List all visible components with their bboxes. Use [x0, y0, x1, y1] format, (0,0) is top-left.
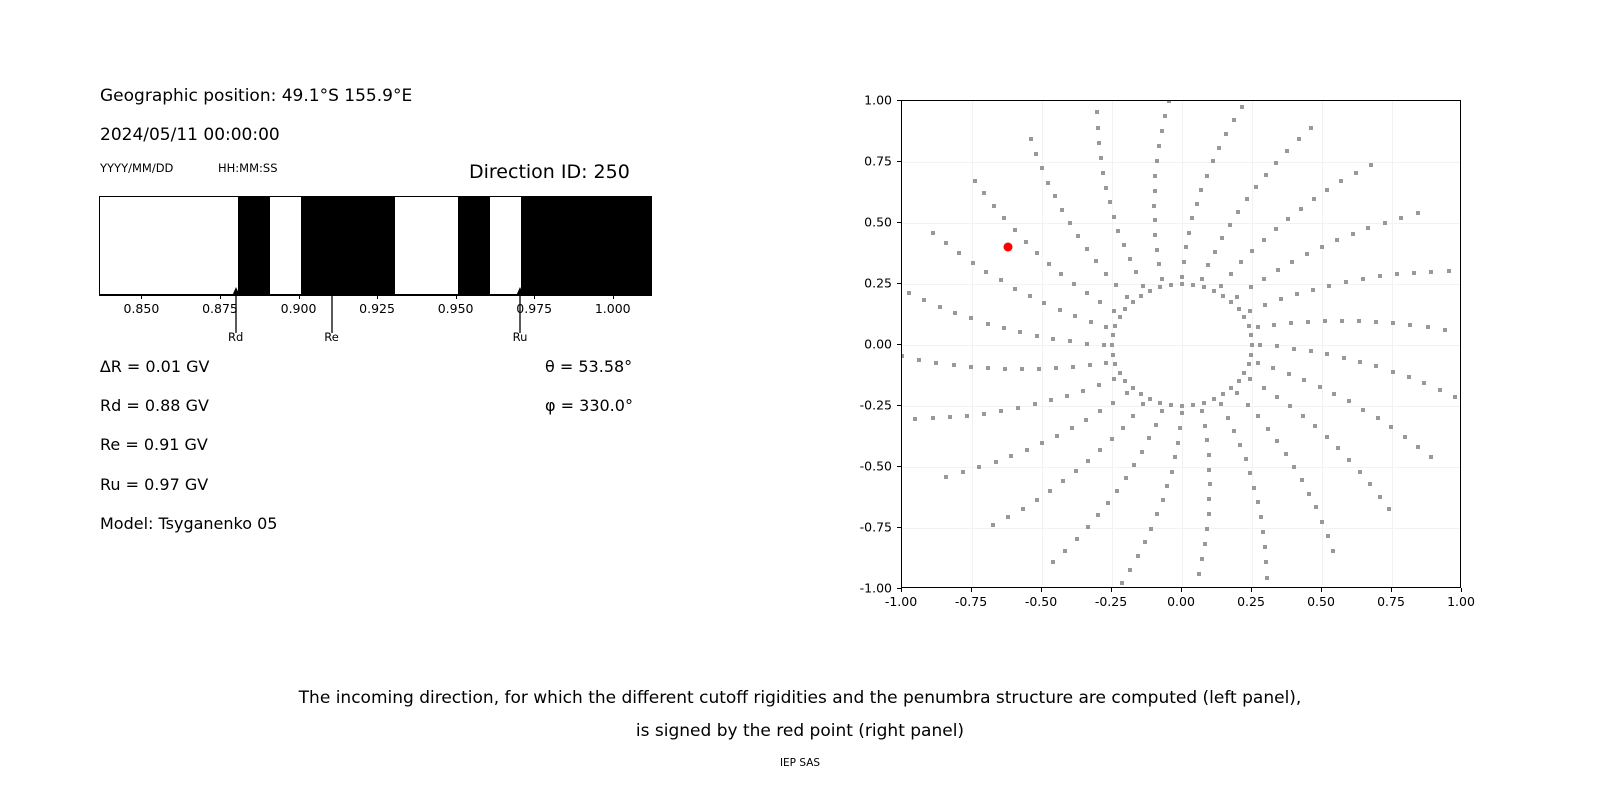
scatter-dot — [1256, 361, 1260, 365]
scatter-dot — [1097, 383, 1101, 387]
scatter-dot — [917, 358, 921, 362]
scatter-dot — [1128, 257, 1132, 261]
scatter-dot — [1051, 337, 1055, 341]
scatter-dot — [1217, 146, 1221, 150]
scatter-dot — [1060, 208, 1064, 212]
scatter-dot — [1068, 339, 1072, 343]
scatter-dot — [1153, 218, 1157, 222]
scatter-dot — [1037, 367, 1041, 371]
scatter-dot — [1048, 489, 1052, 493]
scatter-dot — [1104, 361, 1108, 365]
scatter-dot — [1131, 386, 1135, 390]
scatter-dot — [1049, 398, 1053, 402]
scatter-dot — [1211, 159, 1215, 163]
scatter-dot — [1085, 291, 1089, 295]
x-axis-ticklabel: -1.00 — [885, 594, 917, 609]
scatter-dot — [1153, 189, 1157, 193]
y-axis-tick — [897, 283, 901, 284]
x-axis-ticklabel: -0.25 — [1095, 594, 1127, 609]
param-ru: Ru = 0.97 GV — [100, 475, 208, 494]
scatter-dot — [1054, 366, 1058, 370]
scatter-dot — [1347, 458, 1351, 462]
scatter-dot — [1167, 100, 1171, 103]
scatter-dot — [944, 241, 948, 245]
scatter-dot — [1002, 216, 1006, 220]
scatter-dot — [1084, 418, 1088, 422]
x-axis-tick — [1251, 588, 1252, 592]
scatter-dot — [1187, 231, 1191, 235]
scatter-dot — [1376, 416, 1380, 420]
y-axis-ticklabel: -0.50 — [840, 459, 892, 474]
scatter-dot — [1361, 277, 1365, 281]
scatter-dot — [1025, 448, 1029, 452]
scatter-dot — [1205, 174, 1209, 178]
scatter-dot — [1006, 515, 1010, 519]
scatter-dot — [1158, 285, 1162, 289]
scatter-dot — [1160, 129, 1164, 133]
x-axis-tick — [901, 588, 902, 592]
penumbra-marker-label-ru: Ru — [513, 330, 528, 344]
scatter-dot — [1113, 324, 1117, 328]
y-axis-tick — [897, 161, 901, 162]
penumbra-bar — [99, 196, 652, 295]
param-phi: φ = 330.0° — [545, 396, 633, 415]
footer-credit: IEP SAS — [0, 757, 1600, 769]
scatter-dot — [1306, 320, 1310, 324]
scatter-dot — [1271, 366, 1275, 370]
scatter-dot — [1314, 505, 1318, 509]
y-axis-ticklabel: 0.25 — [840, 276, 892, 291]
gridline-horizontal — [902, 162, 1460, 163]
scatter-dot — [986, 366, 990, 370]
scatter-dot — [1313, 424, 1317, 428]
scatter-dot — [1147, 436, 1151, 440]
scatter-dot — [1173, 455, 1177, 459]
scatter-dot — [952, 363, 956, 367]
scatter-dot — [1219, 402, 1223, 406]
scatter-dot — [1013, 228, 1017, 232]
x-axis-tick — [1321, 588, 1322, 592]
scatter-dot — [931, 416, 935, 420]
scatter-dot — [1275, 439, 1279, 443]
scatter-dot — [1256, 325, 1260, 329]
y-axis-tick — [897, 527, 901, 528]
penumbra-axis-ticklabel: 0.850 — [124, 301, 160, 316]
scatter-dot — [1284, 452, 1288, 456]
penumbra-marker-arrow-rd — [229, 287, 243, 333]
param-model: Model: Tsyganenko 05 — [100, 514, 277, 533]
scatter-dot — [1063, 549, 1067, 553]
scatter-dot — [1128, 568, 1132, 572]
scatter-dot — [1184, 245, 1188, 249]
scatter-dot — [1035, 498, 1039, 502]
scatter-dot — [1258, 343, 1262, 347]
scatter-dot — [1295, 292, 1299, 296]
scatter-dot — [1443, 328, 1447, 332]
scatter-dot — [1279, 297, 1283, 301]
scatter-dot — [1391, 370, 1395, 374]
scatter-dot — [1029, 137, 1033, 141]
scatter-dot — [1264, 560, 1268, 564]
scatter-dot — [1085, 247, 1089, 251]
scatter-dot — [1155, 159, 1159, 163]
scatter-dot — [1354, 171, 1358, 175]
scatter-dot — [1199, 188, 1203, 192]
scatter-dot — [977, 465, 981, 469]
gridline-horizontal — [902, 223, 1460, 224]
x-axis-tick — [1391, 588, 1392, 592]
scatter-dot — [1305, 252, 1309, 256]
scatter-dot — [1020, 367, 1024, 371]
scatter-dot — [1221, 294, 1225, 298]
penumbra-band — [521, 197, 652, 294]
scatter-dot — [1297, 137, 1301, 141]
scatter-dot — [1157, 144, 1161, 148]
scatter-dot — [1220, 236, 1224, 240]
scatter-dot — [1081, 389, 1085, 393]
scatter-dot — [1254, 185, 1258, 189]
scatter-dot — [1311, 288, 1315, 292]
scatter-dot — [1099, 156, 1103, 160]
scatter-dot — [1301, 414, 1305, 418]
scatter-dot — [1207, 497, 1211, 501]
scatter-dot — [1047, 262, 1051, 266]
scatter-dot — [1071, 365, 1075, 369]
scatter-dot — [1320, 520, 1324, 524]
scatter-dot — [1327, 284, 1331, 288]
scatter-dot — [1085, 342, 1089, 346]
scatter-dot — [1261, 530, 1265, 534]
gridline-horizontal — [902, 528, 1460, 529]
scatter-dot — [1058, 308, 1062, 312]
scatter-dot — [1242, 371, 1246, 375]
scatter-dot — [1248, 309, 1252, 313]
scatter-dot — [1290, 260, 1294, 264]
scatter-dot — [1125, 391, 1129, 395]
scatter-dot — [1089, 320, 1093, 324]
scatter-dot — [931, 231, 935, 235]
gridline-vertical — [1392, 101, 1393, 587]
scatter-dot — [1116, 229, 1120, 233]
scatter-dot — [1307, 492, 1311, 496]
penumbra-marker-label-rd: Rd — [228, 330, 243, 344]
scatter-dot — [922, 298, 926, 302]
scatter-dot — [1331, 549, 1335, 553]
scatter-dot — [1336, 446, 1340, 450]
scatter-dot — [1040, 166, 1044, 170]
scatter-dot — [1374, 320, 1378, 324]
y-axis-tick — [897, 222, 901, 223]
param-re: Re = 0.91 GV — [100, 435, 208, 454]
scatter-dot — [1256, 414, 1260, 418]
scatter-dot — [1309, 126, 1313, 130]
scatter-dot — [1265, 576, 1269, 580]
scatter-dot — [1262, 386, 1266, 390]
scatter-dot — [1347, 399, 1351, 403]
scatter-dot — [1169, 403, 1173, 407]
scatter-dot — [1232, 118, 1236, 122]
scatter-dot — [1111, 353, 1115, 357]
scatter-dot — [1068, 221, 1072, 225]
scatter-dot — [1035, 334, 1039, 338]
scatter-dot — [1191, 403, 1195, 407]
x-axis-tick — [1181, 588, 1182, 592]
scatter-dot — [944, 475, 948, 479]
scatter-dot — [1326, 534, 1330, 538]
scatter-dot — [1158, 401, 1162, 405]
scatter-dot — [1123, 379, 1127, 383]
scatter-dot — [1101, 171, 1105, 175]
penumbra-bar-area — [99, 196, 652, 295]
scatter-dot — [1248, 377, 1252, 381]
direction-id-text: Direction ID: 250 — [469, 161, 630, 183]
scatter-dot — [1180, 282, 1184, 286]
scatter-dot — [1387, 507, 1391, 511]
scatter-dot — [1246, 403, 1250, 407]
scatter-dot — [1429, 455, 1433, 459]
scatter-dot — [1339, 179, 1343, 183]
caption-line-2: is signed by the red point (right panel) — [0, 721, 1600, 741]
scatter-dot — [1383, 221, 1387, 225]
scatter-dot — [1276, 268, 1280, 272]
scatter-dot — [1088, 363, 1092, 367]
scatter-dot — [1212, 397, 1216, 401]
scatter-dot — [1292, 347, 1296, 351]
scatter-dot — [1104, 186, 1108, 190]
scatter-dot — [1250, 343, 1254, 347]
scatter-dot — [1264, 173, 1268, 177]
scatter-dot — [1212, 289, 1216, 293]
penumbra-axis-tick — [299, 295, 300, 299]
scatter-dot — [1361, 408, 1365, 412]
penumbra-axis-tick — [377, 295, 378, 299]
scatter-dot — [1369, 163, 1373, 167]
scatter-dot — [1391, 321, 1395, 325]
scatter-dot — [1157, 262, 1161, 266]
scatter-dot — [1046, 181, 1050, 185]
scatter-dot — [1344, 280, 1348, 284]
scatter-dot — [1242, 315, 1246, 319]
scatter-dot — [1240, 105, 1244, 109]
y-axis-tick — [897, 100, 901, 101]
scatter-dot — [934, 361, 938, 365]
scatter-dot — [1207, 468, 1211, 472]
scatter-dot — [1232, 429, 1236, 433]
scatter-dot — [1024, 240, 1028, 244]
penumbra-marker-arrow-re — [325, 287, 339, 333]
scatter-dot — [1416, 211, 1420, 215]
gridline-vertical — [1182, 101, 1183, 587]
scatter-dot — [1040, 441, 1044, 445]
penumbra-axis-tick — [534, 295, 535, 299]
scatter-dot — [1002, 326, 1006, 330]
scatter-dot — [1447, 269, 1451, 273]
scatter-dot — [1236, 210, 1240, 214]
scatter-dot — [1229, 300, 1233, 304]
scatter-dot — [1169, 283, 1173, 287]
datetime-text: 2024/05/11 00:00:00 — [100, 125, 280, 145]
scatter-dot — [984, 270, 988, 274]
scatter-dot — [1200, 557, 1204, 561]
scatter-dot — [1249, 285, 1253, 289]
scatter-dot — [1288, 404, 1292, 408]
x-axis-ticklabel: 0.50 — [1307, 594, 1335, 609]
scatter-dot — [994, 460, 998, 464]
scatter-dot — [1300, 478, 1304, 482]
scatter-dot — [991, 523, 995, 527]
scatter-dot — [1131, 414, 1135, 418]
scatter-dot — [1403, 435, 1407, 439]
scatter-dot — [1016, 406, 1020, 410]
selected-direction-point — [1004, 243, 1013, 252]
penumbra-axis-tick — [456, 295, 457, 299]
scatter-dot — [1065, 394, 1069, 398]
scatter-dot — [1143, 540, 1147, 544]
scatter-dot — [1302, 378, 1306, 382]
scatter-dot — [1141, 402, 1145, 406]
scatter-dot — [1104, 272, 1108, 276]
scatter-dot — [1035, 251, 1039, 255]
scatter-dot — [1110, 343, 1114, 347]
scatter-dot — [1180, 404, 1184, 408]
scatter-dot — [913, 417, 917, 421]
x-axis-tick — [1041, 588, 1042, 592]
x-axis-ticklabel: 0.25 — [1237, 594, 1265, 609]
y-axis-tick — [897, 466, 901, 467]
scatter-dot — [1195, 202, 1199, 206]
penumbra-band — [238, 197, 269, 294]
scatter-dot — [1422, 381, 1426, 385]
scatter-dot — [1318, 385, 1322, 389]
penumbra-axis-line — [99, 295, 652, 296]
scatter-dot — [1335, 238, 1339, 242]
scatter-dot — [1285, 149, 1289, 153]
scatter-dot — [1221, 392, 1225, 396]
scatter-dot — [1153, 233, 1157, 237]
x-axis-tick — [971, 588, 972, 592]
y-axis-ticklabel: 0.00 — [840, 337, 892, 352]
scatter-dot — [1108, 200, 1112, 204]
scatter-dot — [1249, 333, 1253, 337]
scatter-dot — [1132, 463, 1136, 467]
scatter-dot — [1203, 542, 1207, 546]
scatter-dot — [1182, 260, 1186, 264]
scatter-dot — [1160, 277, 1164, 281]
scatter-dot — [1312, 197, 1316, 201]
y-axis-ticklabel: -0.75 — [840, 520, 892, 535]
scatter-dot — [1412, 271, 1416, 275]
scatter-dot — [1191, 283, 1195, 287]
y-axis-ticklabel: 0.50 — [840, 215, 892, 230]
scatter-dot — [1289, 321, 1293, 325]
scatter-dot — [969, 365, 973, 369]
scatter-dot — [1235, 391, 1239, 395]
scatter-dot — [1238, 443, 1242, 447]
scatter-dot — [1340, 319, 1344, 323]
scatter-dot — [1332, 392, 1336, 396]
penumbra-axis-tick — [613, 295, 614, 299]
scatter-dot — [1013, 287, 1017, 291]
scatter-dot — [1154, 423, 1158, 427]
scatter-dot — [1228, 223, 1232, 227]
scatter-dot — [1098, 300, 1102, 304]
scatter-dot — [973, 179, 977, 183]
penumbra-axis-ticklabel: 1.000 — [595, 301, 631, 316]
scatter-dot — [1408, 323, 1412, 327]
scatter-dot — [971, 261, 975, 265]
scatter-dot — [1351, 232, 1355, 236]
scatter-dot — [1325, 188, 1329, 192]
scatter-dot — [1074, 469, 1078, 473]
scatter-dot — [1193, 587, 1197, 588]
scatter-dot — [1086, 459, 1090, 463]
scatter-dot — [1219, 284, 1223, 288]
penumbra-panel: Geographic position: 49.1°S 155.9°E 2024… — [0, 0, 800, 660]
gridline-vertical — [972, 101, 973, 587]
scatter-dot — [1237, 379, 1241, 383]
scatter-dot — [1161, 498, 1165, 502]
scatter-dot — [1299, 207, 1303, 211]
scatter-dot — [1407, 375, 1411, 379]
scatter-dot — [982, 412, 986, 416]
scatter-dot — [1134, 270, 1138, 274]
scatter-dot — [1200, 409, 1204, 413]
date-format-hint: YYYY/MM/DD — [100, 161, 173, 175]
scatter-dot — [1125, 295, 1129, 299]
scatter-dot — [1114, 283, 1118, 287]
x-axis-tick — [1111, 588, 1112, 592]
scatter-dot — [1200, 277, 1204, 281]
scatter-dot — [1121, 426, 1125, 430]
scatter-dot — [907, 291, 911, 295]
scatter-dot — [1426, 325, 1430, 329]
scatter-dot — [1460, 332, 1461, 336]
scatter-dot — [1122, 243, 1126, 247]
scatter-dot — [1429, 270, 1433, 274]
scatter-dot — [1163, 114, 1167, 118]
scatter-dot — [1366, 226, 1370, 230]
scatter-dot — [901, 354, 904, 358]
scatter-dot — [1190, 216, 1194, 220]
scatter-dot — [1205, 527, 1209, 531]
scatter-dot — [1274, 161, 1278, 165]
scatter-dot — [948, 415, 952, 419]
x-axis-ticklabel: -0.50 — [1025, 594, 1057, 609]
penumbra-marker-label-re: Re — [324, 330, 339, 344]
scatter-dot — [1226, 416, 1230, 420]
scatter-dot — [1096, 513, 1100, 517]
scatter-dot — [1342, 356, 1346, 360]
scatter-dot — [1073, 314, 1077, 318]
scatter-dot — [1378, 495, 1382, 499]
scatter-dot — [1003, 367, 1007, 371]
scatter-dot — [1009, 454, 1013, 458]
scatter-dot — [1368, 482, 1372, 486]
scatter-dot — [1252, 486, 1256, 490]
scatter-dot — [1061, 479, 1065, 483]
scatter-dot — [1053, 194, 1057, 198]
scatter-dot — [1104, 325, 1108, 329]
scatter-dot — [1102, 343, 1106, 347]
scatter-dot — [1197, 572, 1201, 576]
y-axis-ticklabel: 0.75 — [840, 154, 892, 169]
x-axis-ticklabel: 1.00 — [1447, 594, 1475, 609]
scatter-dot — [1286, 217, 1290, 221]
penumbra-band — [301, 197, 395, 294]
scatter-dot — [1224, 132, 1228, 136]
scatter-dot — [1098, 448, 1102, 452]
scatter-dot — [1115, 489, 1119, 493]
